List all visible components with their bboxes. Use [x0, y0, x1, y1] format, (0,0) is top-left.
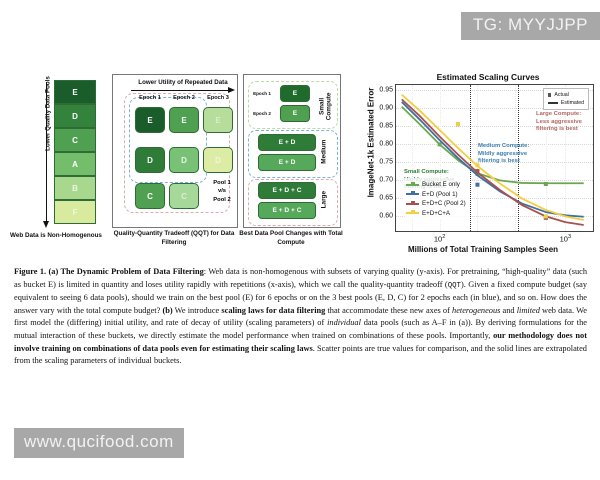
- bucket-a: A: [54, 152, 96, 176]
- bucket-label: D: [72, 112, 78, 121]
- panel-b-qqt-grid: Lower Quality Data Pools Lower Utility o…: [108, 72, 236, 258]
- qqt-cell-r3-c2: C: [169, 183, 199, 209]
- versus-label: v/s: [205, 187, 239, 195]
- annotation-line: Large Compute:: [536, 111, 582, 119]
- annotation-line: filtering is best: [536, 126, 582, 134]
- bucket-label: E: [72, 88, 77, 97]
- actual-marker-icon: [548, 93, 552, 97]
- panel-c-pool-cell: E + D + C: [258, 202, 316, 219]
- secondary-legend-label: Actual: [554, 92, 568, 98]
- panel-c-group-label: SmallCompute: [319, 84, 334, 128]
- panel-c-pool-label: E + D: [279, 139, 296, 146]
- legend-line-swatch: [406, 184, 419, 186]
- bucket-b: B: [54, 176, 96, 200]
- qqt-cell-r1-c1: E: [135, 107, 165, 133]
- caption-italic-2: limited: [517, 306, 540, 315]
- panel-b-top-label: Lower Utility of Repeated Data: [131, 79, 235, 86]
- telegram-watermark-banner: TG: MYYJJPP: [461, 12, 600, 40]
- figure-caption: Figure 1. (a) The Dynamic Problem of Dat…: [14, 266, 587, 368]
- panel-c-pool-label: E + D + C: [273, 207, 302, 214]
- caption-italic-1: heterogeneous: [452, 306, 500, 315]
- panel-c-pool-label: E: [293, 90, 297, 97]
- secondary-legend-row-1: Estimated: [548, 99, 584, 107]
- legend-row-2: E+D+C (Pool 2): [406, 199, 466, 209]
- annotation-line: filtering is best: [478, 158, 529, 166]
- bucket-label: C: [72, 136, 78, 145]
- legend-line-swatch: [406, 212, 419, 214]
- legend-label: E+D+C (Pool 2): [422, 200, 466, 207]
- qqt-cell-label: D: [147, 156, 153, 165]
- telegram-watermark-text: TG: MYYJJPP: [473, 15, 588, 35]
- qqt-cell-label: C: [181, 192, 187, 201]
- y-tick-label: 0.75: [379, 159, 393, 166]
- chart-x-axis-label: Millions of Total Training Samples Seen: [368, 245, 598, 254]
- caption-text-4: that accommodate these new axes of: [325, 306, 452, 315]
- panel-c-pool-cell: E + D: [258, 134, 316, 151]
- chart-series-legend: Bucket E onlyE+D (Pool 1)E+D+C (Pool 2)E…: [403, 178, 469, 220]
- qqt-cell-label: C: [147, 192, 153, 201]
- panel-a-caption: Web Data is Non-Homogenous: [2, 232, 110, 241]
- annotation-large-compute: Large Compute:Less aggressivefiltering i…: [536, 111, 582, 134]
- qqt-cell-label: D: [181, 156, 187, 165]
- legend-row-3: E+D+C+A: [406, 209, 466, 219]
- actual-data-point: [544, 182, 548, 186]
- legend-row-1: E+D (Pool 1): [406, 190, 466, 200]
- panel-a-data-buckets: Lower Quality Data Pools EDCABF Web Data…: [8, 72, 104, 258]
- panel-c-box: Epoch 1EEpoch 2ESmallComputeE + DE + DMe…: [243, 74, 341, 228]
- qqt-cell-r2-c1: D: [135, 147, 165, 173]
- bucket-label: B: [72, 184, 78, 193]
- panel-c-epoch-label: Epoch 1: [250, 91, 274, 96]
- site-watermark-banner: www.qucifood.com: [14, 428, 184, 458]
- y-tick-label: 0.85: [379, 123, 393, 130]
- epoch-header-3: Epoch 3: [202, 95, 234, 101]
- y-tick-label: 0.70: [379, 177, 393, 184]
- panel-c-pool-label: E + D: [279, 159, 296, 166]
- qqt-cell-label: E: [181, 116, 186, 125]
- figure-1-graphic: Lower Quality Data Pools EDCABF Web Data…: [0, 68, 600, 258]
- pool-comparison-key: Pool 1 v/s Pool 2: [205, 179, 239, 204]
- actual-data-point: [475, 169, 479, 173]
- epoch-header-2: Epoch 2: [168, 95, 200, 101]
- panel-c-group-label: Medium: [320, 130, 327, 174]
- panel-d-scaling-chart: Estimated Scaling Curves ImageNet-1k Est…: [348, 68, 598, 258]
- qqt-cell-r1-c2: E: [169, 107, 199, 133]
- caption-text-3: We introduce: [173, 306, 222, 315]
- x-tick-label: 102: [434, 234, 445, 244]
- secondary-legend-label: Estimated: [561, 100, 584, 106]
- chart-actual-estimated-legend: ActualEstimated: [543, 88, 589, 110]
- panel-b-caption: Quality-Quantity Tradeoff (QQT) for Data…: [104, 230, 244, 247]
- legend-label: E+D (Pool 1): [422, 191, 458, 198]
- legend-line-swatch: [406, 193, 419, 195]
- panel-c-pool-cell: E + D + C: [258, 182, 316, 199]
- bucket-label: A: [72, 160, 78, 169]
- qqt-cell-r3-c1: C: [135, 183, 165, 209]
- panel-a-down-arrow-icon: [46, 82, 47, 222]
- legend-marker-swatch: [411, 182, 415, 186]
- bucket-e: E: [54, 80, 96, 104]
- qqt-cell-label: E: [147, 116, 152, 125]
- legend-marker-swatch: [411, 191, 415, 195]
- bucket-f: F: [54, 200, 96, 224]
- actual-data-point: [456, 122, 460, 126]
- pool-2-label: Pool 2: [205, 196, 239, 204]
- annotation-line: Medium Compute:: [478, 143, 529, 151]
- y-tick-label: 0.60: [379, 213, 393, 220]
- annotation-line: Small Compute:: [404, 169, 454, 177]
- chart-title: Estimated Scaling Curves: [388, 72, 588, 82]
- bucket-d: D: [54, 104, 96, 128]
- y-tick-label: 0.95: [379, 87, 393, 94]
- epoch-header-1: Epoch 1: [134, 95, 166, 101]
- y-tick-label: 0.80: [379, 141, 393, 148]
- caption-text-5: and: [500, 306, 516, 315]
- panel-c-pool-cell: E + D: [258, 154, 316, 171]
- chart-plot-area: 0.950.900.850.800.750.700.650.60102103 S…: [395, 84, 594, 232]
- legend-row-0: Bucket E only: [406, 180, 466, 190]
- caption-qqt-mono: QQT: [448, 282, 461, 290]
- annotation-line: Less aggressive: [536, 119, 582, 127]
- y-tick-label: 0.65: [379, 195, 393, 202]
- panel-c-best-pool-changes: Epoch 1EEpoch 2ESmallComputeE + DE + DMe…: [243, 72, 343, 258]
- caption-part-a-title: (a) The Dynamic Problem of Data Filterin…: [49, 267, 204, 276]
- actual-data-point: [544, 214, 548, 218]
- bucket-label: F: [73, 208, 78, 217]
- panel-c-pool-cell: E: [280, 85, 310, 102]
- actual-data-point: [475, 183, 479, 187]
- panel-c-group-label: Large: [320, 178, 327, 222]
- qqt-cell-r2-c2: D: [169, 147, 199, 173]
- panel-b-right-arrow-icon: [131, 90, 229, 91]
- annotation-medium-compute: Medium Compute:Mildly aggressivefilterin…: [478, 143, 529, 166]
- qqt-cell-r2-c3: D: [203, 147, 233, 173]
- annotation-line: Mildly aggressive: [478, 151, 529, 159]
- legend-label: Bucket E only: [422, 181, 460, 188]
- bucket-c: C: [54, 128, 96, 152]
- chart-y-axis-label: ImageNet-1k Estimated Error: [367, 73, 376, 213]
- panel-b-box: Lower Utility of Repeated Data Epoch 1Ep…: [112, 74, 238, 228]
- y-tick-label: 0.90: [379, 105, 393, 112]
- pool-1-label: Pool 1: [205, 179, 239, 187]
- qqt-cell-label: E: [215, 116, 220, 125]
- legend-marker-swatch: [411, 201, 415, 205]
- site-watermark-text: www.qucifood.com: [24, 432, 174, 452]
- legend-label: E+D+C+A: [422, 210, 450, 217]
- legend-line-swatch: [406, 203, 419, 205]
- qqt-cell-r1-c3: E: [203, 107, 233, 133]
- panel-c-caption: Best Data Pool Changes with Total Comput…: [233, 230, 349, 247]
- caption-bold-1: scaling laws for data filtering: [221, 306, 325, 315]
- legend-marker-swatch: [411, 210, 415, 214]
- caption-italic-3: individual: [327, 318, 361, 327]
- panel-a-bucket-stack: EDCABF: [54, 80, 96, 224]
- panel-c-pool-label: E: [293, 110, 297, 117]
- panel-c-pool-cell: E: [280, 105, 310, 122]
- secondary-legend-row-0: Actual: [548, 91, 584, 99]
- actual-data-point: [438, 142, 442, 146]
- caption-figure-number: Figure 1.: [14, 267, 46, 276]
- estimated-line-icon: [548, 102, 558, 104]
- x-tick-label: 103: [560, 234, 571, 244]
- qqt-cell-label: D: [215, 156, 221, 165]
- panel-c-epoch-label: Epoch 2: [250, 111, 274, 116]
- panel-c-pool-label: E + D + C: [273, 187, 302, 194]
- caption-part-b-label: (b): [162, 306, 172, 315]
